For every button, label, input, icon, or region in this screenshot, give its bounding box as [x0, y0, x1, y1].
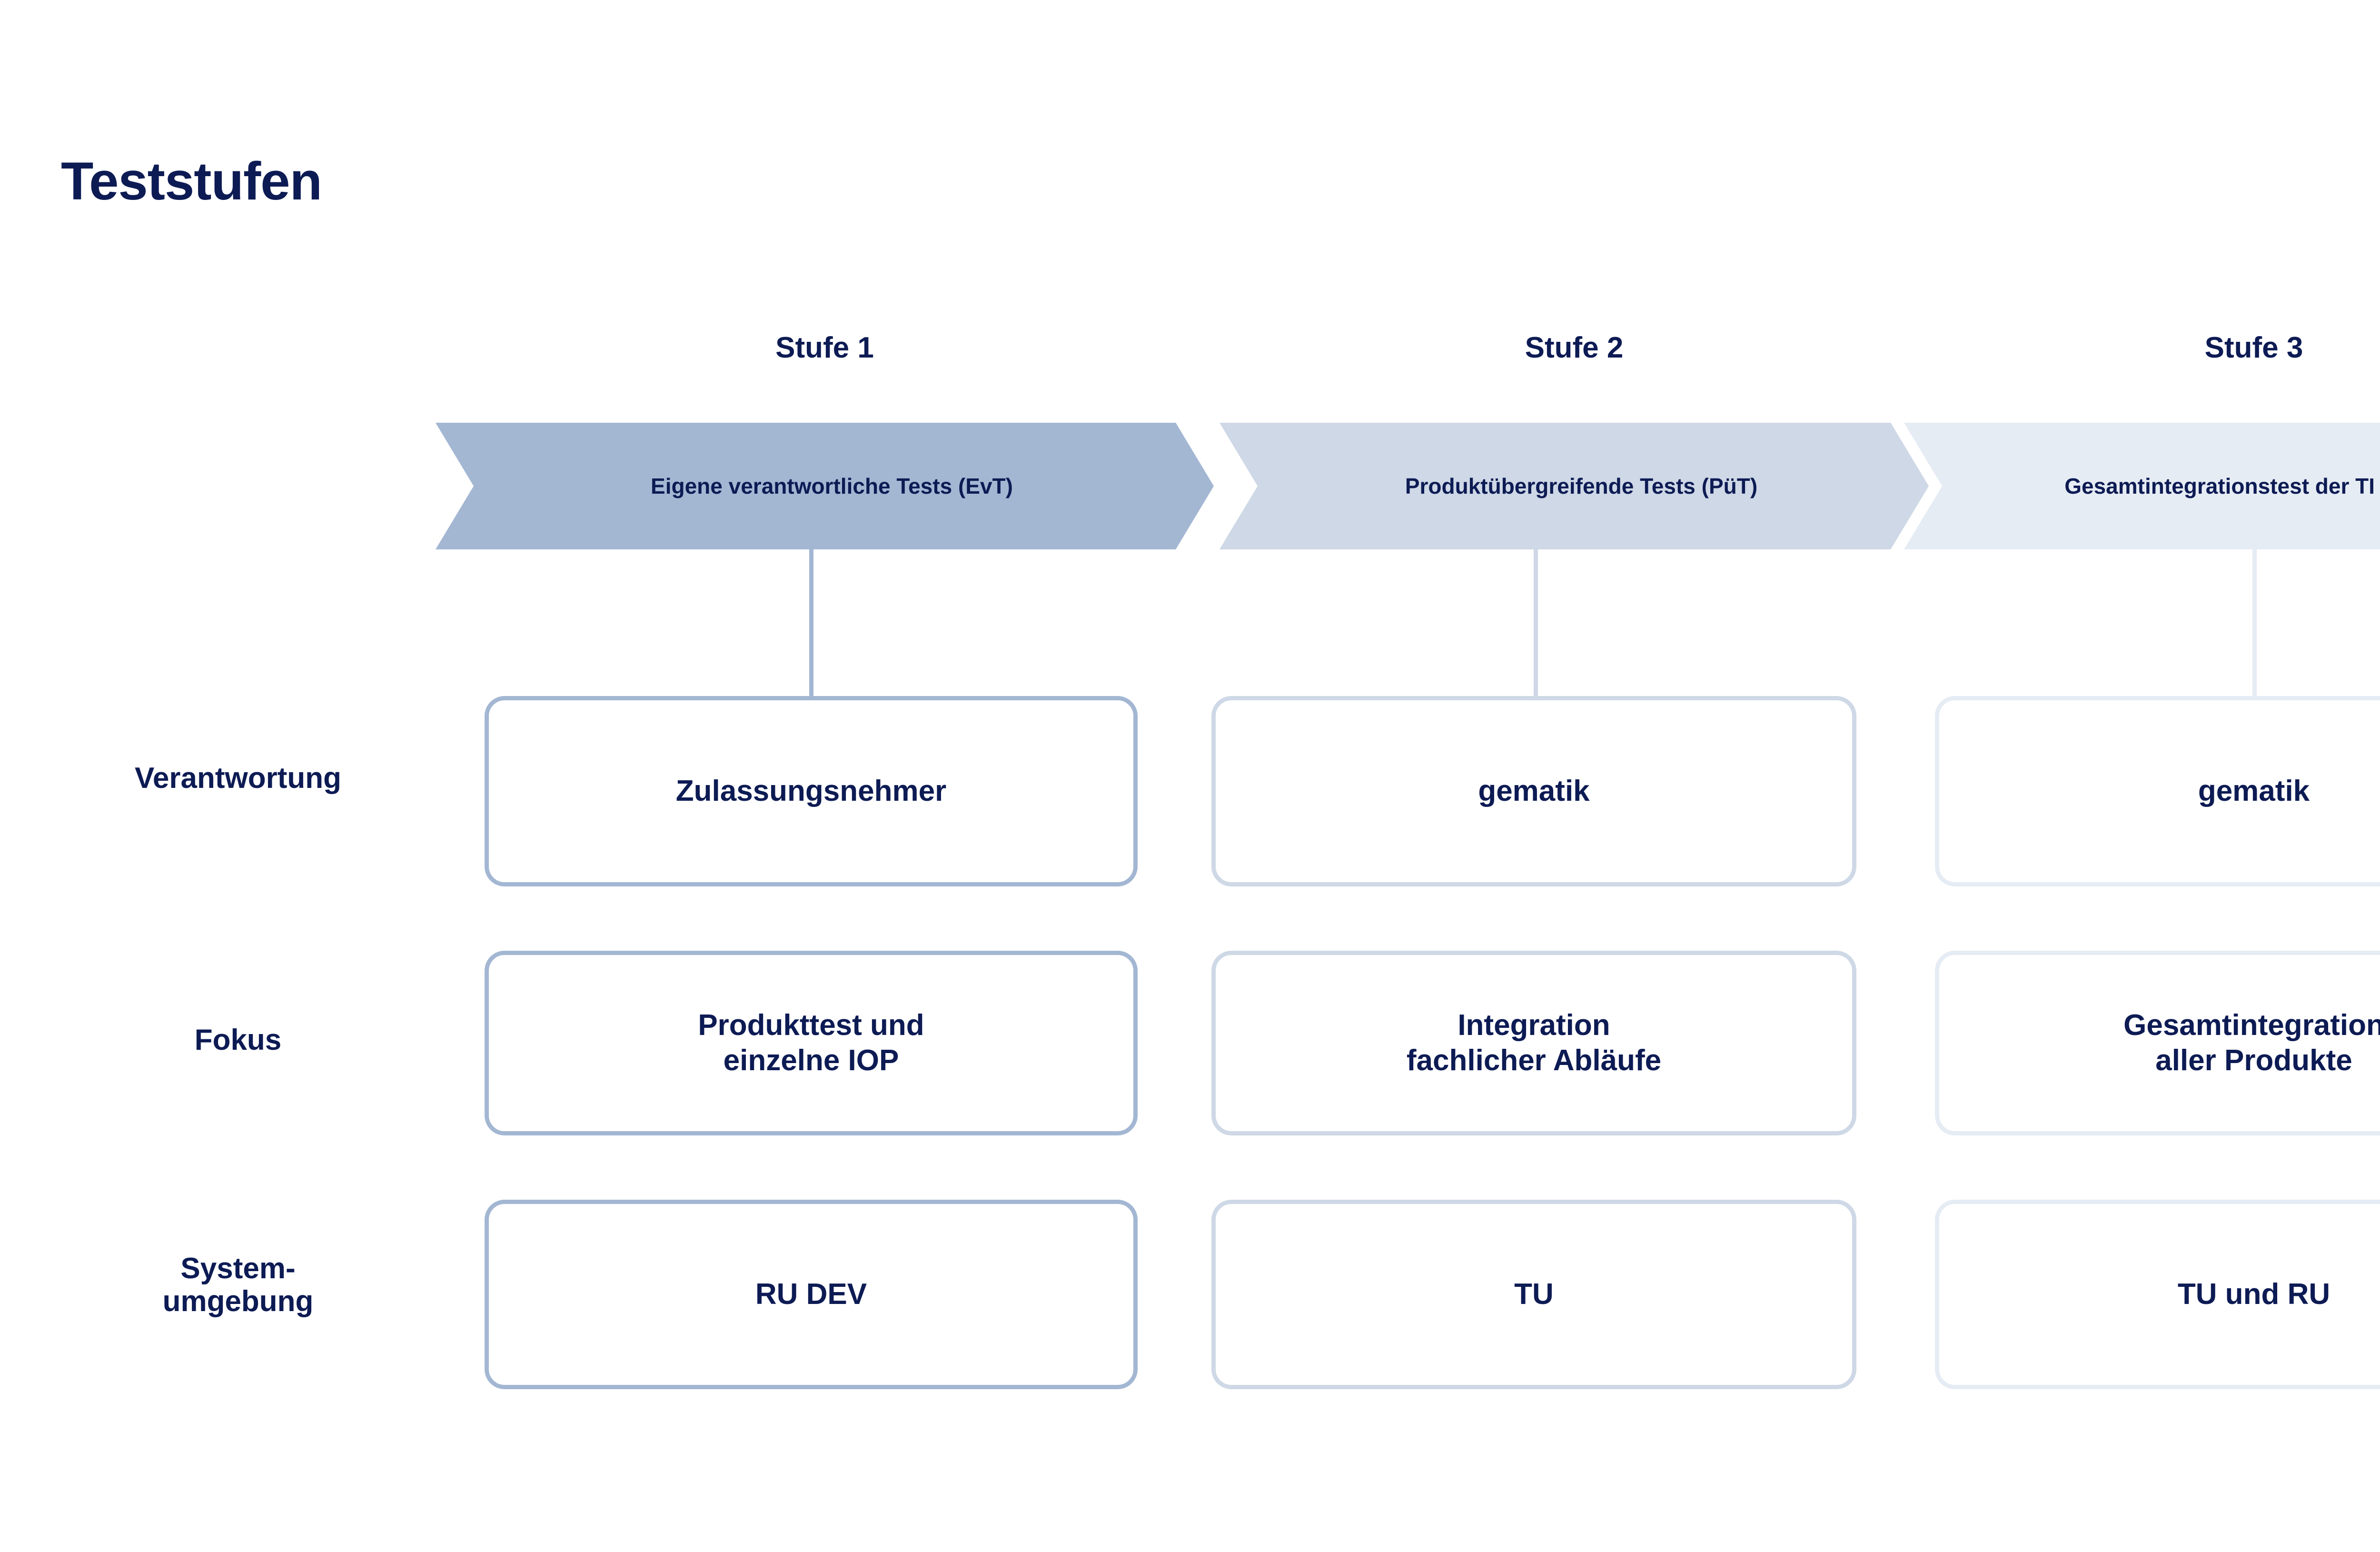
- cell-systemumgebung-stufe-3[interactable]: TU und RU: [1935, 1200, 2380, 1389]
- row-label-systemumgebung-line2: umgebung: [29, 1285, 447, 1318]
- stage-chevron-label-2: Produktübergreifende Tests (PüT): [1405, 473, 1757, 499]
- cell-text: TU und RU: [2166, 1277, 2341, 1312]
- stage-chevron-band: Eigene verantwortliche Tests (EvT) Produ…: [0, 423, 2380, 549]
- cell-line-1: gematik: [1478, 774, 1589, 809]
- row-label-verantwortung-line1: Verantwortung: [29, 762, 447, 795]
- stage-chevron-1[interactable]: Eigene verantwortliche Tests (EvT): [436, 423, 1214, 549]
- connector-line-stage-2: [1534, 549, 1538, 697]
- cell-line-2: aller Produkte: [2123, 1043, 2380, 1078]
- cell-line-1: gematik: [2198, 774, 2310, 809]
- cell-text: gematik: [2187, 774, 2321, 809]
- stage-chevron-2[interactable]: Produktübergreifende Tests (PüT): [1220, 423, 1929, 549]
- stage-chevron-label-3: Gesamtintegrationstest der TI (GIT-TI): [2064, 473, 2380, 499]
- row-label-fokus: Fokus: [29, 1024, 447, 1056]
- cell-line-1: Gesamtintegration: [2123, 1008, 2380, 1043]
- stage-chevron-label-1: Eigene verantwortliche Tests (EvT): [651, 473, 1013, 499]
- cell-text: RU DEV: [744, 1277, 878, 1312]
- cell-line-1: Produkttest und: [698, 1008, 924, 1043]
- cell-verantwortung-stufe-1[interactable]: Zulassungsnehmer: [485, 696, 1138, 886]
- cell-fokus-stufe-2[interactable]: Integration fachlicher Abläufe: [1211, 951, 1856, 1135]
- cell-text: Produkttest und einzelne IOP: [686, 1008, 935, 1079]
- row-label-verantwortung: Verantwortung: [29, 762, 447, 795]
- stage-heading-2: Stufe 2: [1220, 333, 1929, 363]
- cell-systemumgebung-stufe-1[interactable]: RU DEV: [485, 1200, 1138, 1389]
- connector-line-stage-3: [2252, 549, 2257, 697]
- cell-line-2: fachlicher Abläufe: [1407, 1043, 1661, 1078]
- cell-text: Gesamtintegration aller Produkte: [2112, 1008, 2380, 1079]
- row-label-fokus-line1: Fokus: [29, 1024, 447, 1056]
- stage-chevron-3[interactable]: Gesamtintegrationstest der TI (GIT-TI): [1904, 423, 2380, 549]
- page-title: Teststufen: [61, 155, 322, 208]
- cell-line-1: Zulassungsnehmer: [676, 774, 946, 809]
- row-label-systemumgebung: System- umgebung: [29, 1252, 447, 1318]
- cell-text: TU: [1503, 1277, 1565, 1312]
- cell-systemumgebung-stufe-2[interactable]: TU: [1211, 1200, 1856, 1389]
- cell-text: Integration fachlicher Abläufe: [1395, 1008, 1673, 1079]
- connector-line-stage-1: [809, 549, 813, 697]
- cell-line-1: Integration: [1407, 1008, 1661, 1043]
- stage-heading-3: Stufe 3: [1904, 333, 2380, 363]
- stage-heading-1: Stufe 1: [436, 333, 1214, 363]
- row-label-systemumgebung-line1: System-: [29, 1252, 447, 1285]
- cell-line-1: TU und RU: [2178, 1277, 2330, 1312]
- cell-line-1: RU DEV: [755, 1277, 867, 1312]
- cell-verantwortung-stufe-3[interactable]: gematik: [1935, 696, 2380, 886]
- cell-text: Zulassungsnehmer: [664, 774, 958, 809]
- cell-fokus-stufe-1[interactable]: Produkttest und einzelne IOP: [485, 951, 1138, 1135]
- cell-line-2: einzelne IOP: [698, 1043, 924, 1078]
- cell-text: gematik: [1467, 774, 1601, 809]
- cell-verantwortung-stufe-2[interactable]: gematik: [1211, 696, 1856, 886]
- cell-line-1: TU: [1514, 1277, 1554, 1312]
- cell-fokus-stufe-3[interactable]: Gesamtintegration aller Produkte: [1935, 951, 2380, 1135]
